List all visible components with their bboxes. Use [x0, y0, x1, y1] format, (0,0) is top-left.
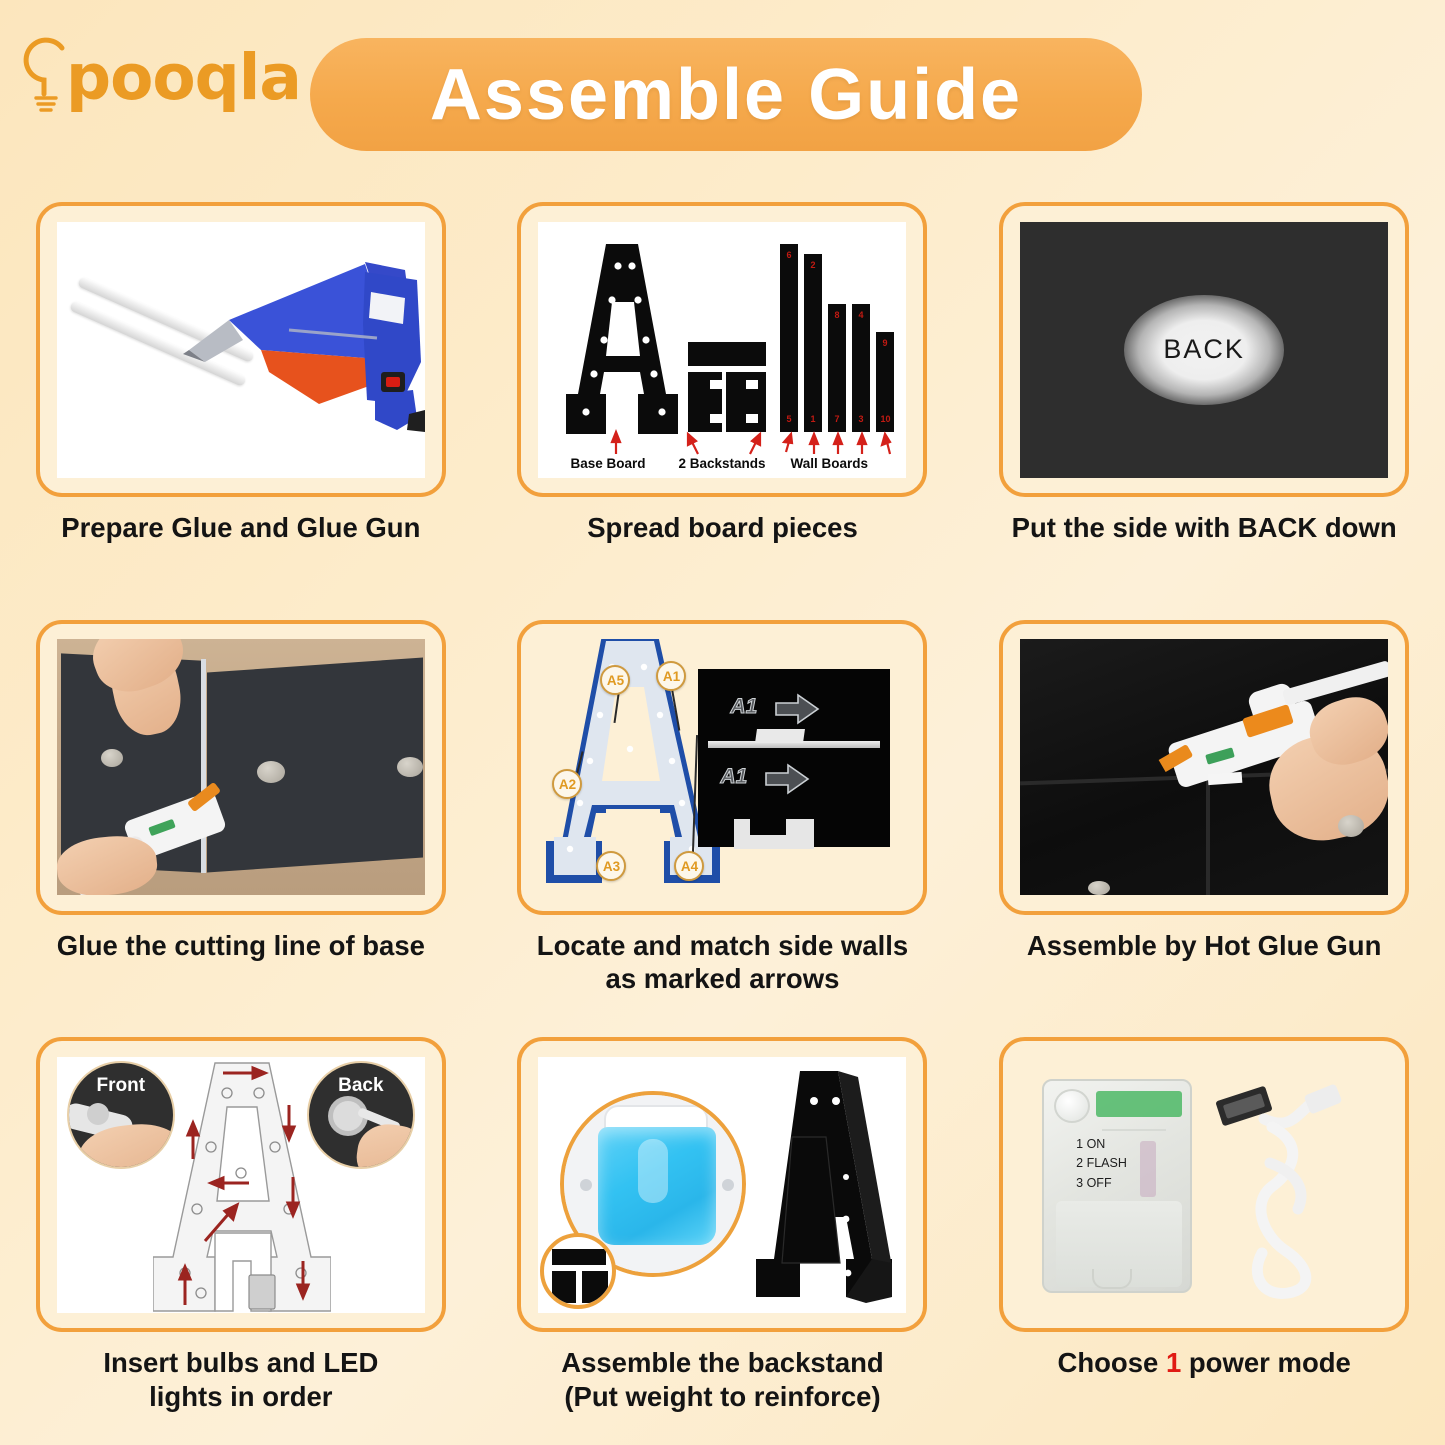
led-insert-order-photo: Front Back [57, 1057, 425, 1313]
battery-box: 1 ON 2 FLASH 3 OFF [1042, 1079, 1192, 1293]
step-8-caption-line2: (Put weight to reinforce) [507, 1380, 937, 1414]
backstands-label: 2 Backstands [678, 456, 765, 471]
usb-cable-icon [1210, 1075, 1380, 1301]
backstand-shape [742, 1067, 902, 1311]
front-label: Front [69, 1075, 173, 1097]
back-glow: BACK [1124, 295, 1284, 405]
step-card-7: Front Back Insert bulbs and LED [0, 1027, 482, 1445]
step-9-caption-suffix: power mode [1181, 1347, 1351, 1378]
backstand-pieces-inset [540, 1233, 616, 1309]
assemble-guide-page: pooqla Assemble Guide [0, 0, 1445, 1445]
brand-name: pooqla [66, 41, 301, 114]
step-7-caption-line1: Insert bulbs and LED [26, 1346, 456, 1380]
step-8-caption-line1: Assemble the backstand [507, 1346, 937, 1380]
letter-a-led-map [153, 1061, 331, 1313]
power-mode-option: 3 OFF [1076, 1174, 1127, 1193]
step-card-5: A5 A1 A2 A3 A4 A1 A1 [482, 610, 964, 1028]
page-title: Assemble Guide [430, 54, 1022, 136]
power-mode-photo: 1 ON 2 FLASH 3 OFF [1020, 1057, 1388, 1313]
step-1-image-frame [36, 202, 446, 497]
step-2-caption: Spread board pieces [507, 511, 937, 545]
step-5-caption-line2: as marked arrows [507, 962, 937, 996]
glue-cutting-line-photo [57, 639, 425, 895]
steps-grid: Prepare Glue and Glue Gun [0, 192, 1445, 1445]
power-mode-option: 1 ON [1076, 1135, 1127, 1154]
hot-glue-gun-photo [1020, 639, 1388, 895]
right-arrow-icon [698, 669, 890, 847]
step-card-9: 1 ON 2 FLASH 3 OFF [963, 1027, 1445, 1445]
step-card-2: 6 2 8 4 9 5 1 7 3 10 [482, 192, 964, 610]
base-board-label: Base Board [570, 456, 645, 471]
wall-boards-label: Wall Boards [790, 456, 868, 471]
step-6-image-frame [999, 620, 1409, 915]
power-mode-list: 1 ON 2 FLASH 3 OFF [1076, 1135, 1127, 1193]
step-8-caption: Assemble the backstand (Put weight to re… [507, 1346, 937, 1413]
a1-arrow-photo: A1 A1 [698, 669, 890, 847]
power-mode-option: 2 FLASH [1076, 1154, 1127, 1173]
back-inset: Back [309, 1063, 413, 1167]
step-8-image-frame [517, 1037, 927, 1332]
glue-gun-icon [169, 254, 425, 444]
step-9-image-frame: 1 ON 2 FLASH 3 OFF [999, 1037, 1409, 1332]
step-1-caption: Prepare Glue and Glue Gun [26, 511, 456, 545]
step-2-image-frame: 6 2 8 4 9 5 1 7 3 10 [517, 202, 927, 497]
brand-logo: pooqla [22, 22, 302, 132]
pointer-arrows [538, 222, 906, 478]
step-card-8: Assemble the backstand (Put weight to re… [482, 1027, 964, 1445]
step-9-caption-number: 1 [1166, 1347, 1181, 1378]
step-9-caption: Choose 1 power mode [989, 1346, 1419, 1380]
step-3-caption: Put the side with BACK down [989, 511, 1419, 545]
step-7-caption-line2: lights in order [26, 1380, 456, 1414]
step-7-caption: Insert bulbs and LED lights in order [26, 1346, 456, 1413]
back-label: BACK [1163, 334, 1245, 365]
step-card-4: Glue the cutting line of base [0, 610, 482, 1028]
board-pieces-photo: 6 2 8 4 9 5 1 7 3 10 [538, 222, 906, 478]
step-card-6: Assemble by Hot Glue Gun [963, 610, 1445, 1028]
backstand-assembly-photo [538, 1057, 906, 1313]
step-6-caption: Assemble by Hot Glue Gun [989, 929, 1419, 963]
page-header: pooqla Assemble Guide [0, 0, 1445, 190]
step-5-caption: Locate and match side walls as marked ar… [507, 929, 937, 996]
step-7-image-frame: Front Back [36, 1037, 446, 1332]
step-card-1: Prepare Glue and Glue Gun [0, 192, 482, 610]
step-card-3: BACK Put the side with BACK down [963, 192, 1445, 610]
front-inset: Front [69, 1063, 173, 1167]
step-5-image-frame: A5 A1 A2 A3 A4 A1 A1 [517, 620, 927, 915]
step-9-caption-prefix: Choose [1057, 1347, 1165, 1378]
step-4-caption: Glue the cutting line of base [26, 929, 456, 963]
marked-side-walls-photo: A5 A1 A2 A3 A4 A1 A1 [538, 639, 906, 895]
step-5-caption-line1: Locate and match side walls [507, 929, 937, 963]
step-4-image-frame [36, 620, 446, 915]
title-banner: Assemble Guide [310, 38, 1142, 151]
back-side-photo: BACK [1020, 222, 1388, 478]
glue-gun-photo [57, 222, 425, 478]
step-3-image-frame: BACK [999, 202, 1409, 497]
back-inset-label: Back [309, 1075, 413, 1097]
